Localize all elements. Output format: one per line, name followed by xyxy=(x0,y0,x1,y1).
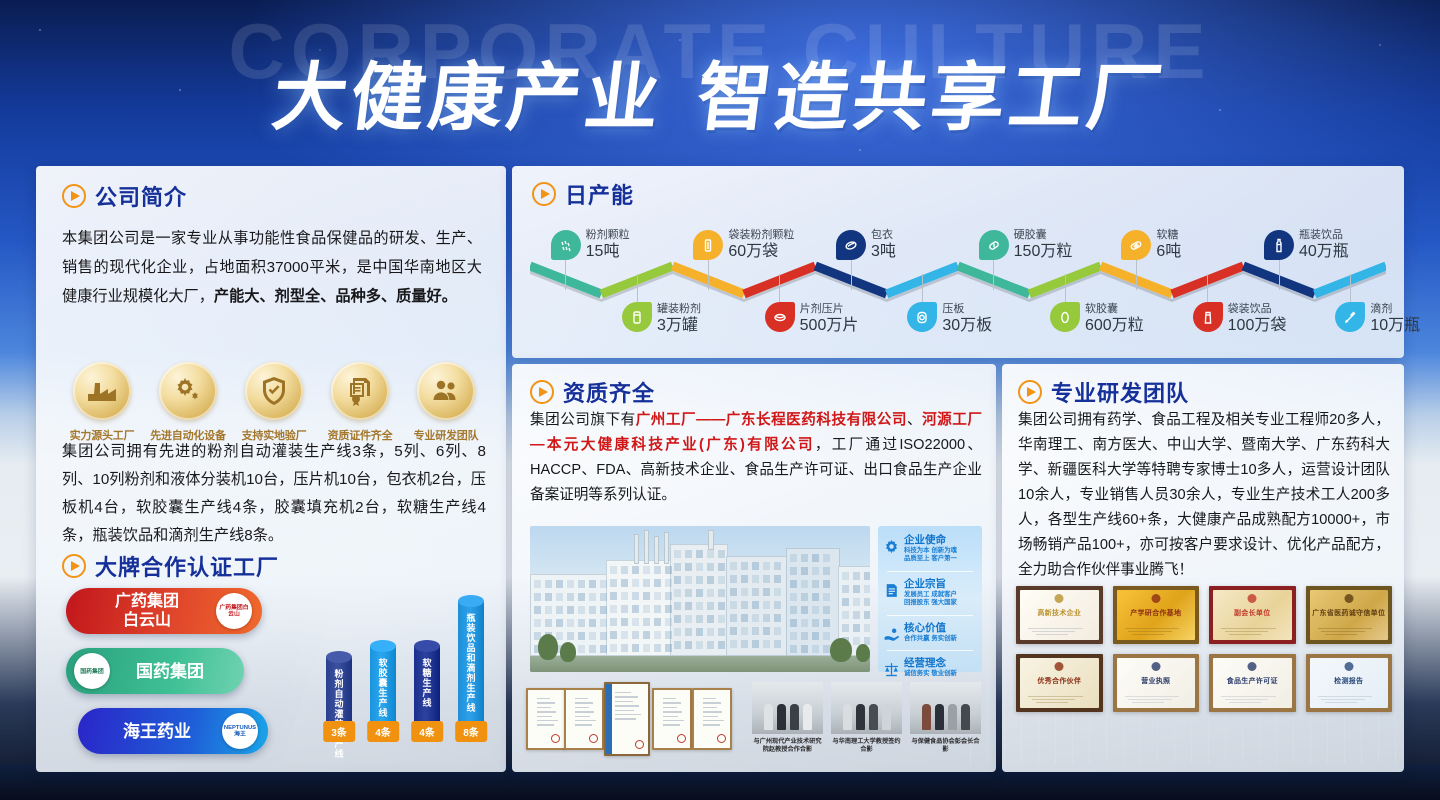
gummy-icon xyxy=(1121,230,1151,260)
culture-item-4: 经营理念诚信务实 敬业创新 xyxy=(883,657,977,678)
company-badge-4: 资质证件齐全 xyxy=(322,362,398,443)
certificate-3: 副会长单位 xyxy=(1209,586,1296,644)
capacity-item-name: 粉剂颗粒 xyxy=(586,228,630,242)
certificate-title: 高新技术企业 xyxy=(1016,608,1103,618)
capacity-item-value: 100万袋 xyxy=(1228,316,1287,335)
document-icon xyxy=(883,582,900,599)
bar-value-tag: 4条 xyxy=(411,721,443,742)
capacity-section-header: 日产能 xyxy=(532,178,634,210)
arrow-right-icon xyxy=(62,554,86,578)
pouch-icon xyxy=(1193,302,1223,332)
pin-stem xyxy=(779,274,780,302)
capacity-item-value: 3万罐 xyxy=(657,316,701,335)
brand-pill-3[interactable]: 海王药业NEPTUNUS 海王 xyxy=(78,708,268,754)
certificate-5: 优秀合作伙伴 xyxy=(1016,654,1103,712)
culture-item-line-1: 发展员工 成就客户 xyxy=(904,591,977,599)
brand-pill-label: 海王药业 xyxy=(78,722,222,741)
pin-stem xyxy=(1350,274,1351,302)
qualification-paragraph: 集团公司旗下有广州工厂——广东长程医药科技有限公司、河源工厂—本元大健康科技产业… xyxy=(530,408,982,508)
pin-stem xyxy=(1279,260,1280,290)
poster-canvas: CORPORATE CULTURE 大健康产业智造共享工厂 公司简介 本集团公司… xyxy=(0,0,1440,800)
pin-stem xyxy=(637,274,638,302)
capacity-item-name: 瓶装饮品 xyxy=(1299,228,1349,242)
culture-divider xyxy=(887,571,973,572)
bar-column-2: 软胶囊生产线4条 xyxy=(370,646,396,742)
coating-icon xyxy=(836,230,866,260)
scales-icon xyxy=(883,661,900,678)
brand-logo-2-icon: 国药集团 xyxy=(74,653,110,689)
culture-divider xyxy=(887,650,973,651)
shield-check-icon xyxy=(245,362,303,420)
arrow-right-icon xyxy=(62,184,86,208)
gears-icon xyxy=(159,362,217,420)
certificate-7: 食品生产许可证 xyxy=(1209,654,1296,712)
people-icon xyxy=(417,362,475,420)
sachet-icon xyxy=(693,230,723,260)
certificate-title: 营业执照 xyxy=(1113,676,1200,686)
certificate-6: 营业执照 xyxy=(1113,654,1200,712)
company-section-header: 公司简介 xyxy=(62,180,482,212)
capacity-item-name: 袋装粉剂颗粒 xyxy=(728,228,794,242)
group-photo-caption: 与保健食品协会彭会长合影 xyxy=(910,738,981,754)
company-badge-2: 先进自动化设备 xyxy=(150,362,226,443)
capacity-zigzag-chart: 粉剂颗粒15吨罐装粉剂3万罐袋装粉剂颗粒60万袋片剂压片500万片包衣3吨压板3… xyxy=(530,208,1386,348)
factory-icon xyxy=(73,362,131,420)
culture-item-title: 经营理念 xyxy=(904,657,977,670)
bar-label: 瓶装饮品和滴剂生产线 xyxy=(465,613,478,713)
pin-stem xyxy=(708,260,709,290)
group-photo-3: 与保健食品协会彭会长合影 xyxy=(910,682,981,754)
mini-certificate-2 xyxy=(564,688,604,750)
can-icon xyxy=(622,302,652,332)
hand-icon xyxy=(883,626,900,643)
brand-pill-label: 广药集团白云山 xyxy=(66,592,216,630)
capacity-item-value: 10万瓶 xyxy=(1370,316,1420,335)
culture-item-line-2: 回报股东 强大国家 xyxy=(904,599,977,607)
bar-label: 粉剂自动灌装生产线 xyxy=(333,669,346,759)
culture-item-1: 企业使命科技为本 创新为魂品质至上 客户第一 xyxy=(883,534,977,564)
qualification-section-title: 资质齐全 xyxy=(563,376,655,408)
corporate-culture-panel: 企业使命科技为本 创新为魂品质至上 客户第一企业宗旨发展员工 成就客户回报股东 … xyxy=(878,526,982,672)
certificate-1: 高新技术企业 xyxy=(1016,586,1103,644)
group-photo-image xyxy=(752,682,823,734)
pin-stem xyxy=(922,274,923,302)
brand-section-header: 大牌合作认证工厂 xyxy=(62,550,486,582)
capacity-item-value: 6吨 xyxy=(1156,242,1181,261)
culture-item-3: 核心价值合作共赢 务实创新 xyxy=(883,622,977,643)
culture-item-title: 核心价值 xyxy=(904,622,977,635)
mini-certificate-3 xyxy=(604,682,650,756)
brand-section-title: 大牌合作认证工厂 xyxy=(95,550,279,582)
certificate-icon xyxy=(331,362,389,420)
bar-value-tag: 3条 xyxy=(323,721,355,742)
capacity-item-name: 软胶囊 xyxy=(1085,302,1144,316)
certificate-title: 食品生产许可证 xyxy=(1209,676,1296,686)
arrow-right-icon xyxy=(532,182,556,206)
certificate-grid: 高新技术企业产学研合作基地副会长单位广东省医药诚守信单位优秀合作伙伴营业执照食品… xyxy=(1016,586,1392,712)
pin-stem xyxy=(1207,274,1208,302)
company-badge-5: 专业研发团队 xyxy=(408,362,484,443)
qual-text-b: 、 xyxy=(907,412,922,428)
company-badge-1: 实力源头工厂 xyxy=(64,362,140,443)
title-part-2: 智造共享工厂 xyxy=(692,55,1171,141)
bar-column-3: 软糖生产线4条 xyxy=(414,646,440,742)
brand-pill-2[interactable]: 国药集团国药集团 xyxy=(66,648,244,694)
culture-item-line-1: 诚信务实 敬业创新 xyxy=(904,670,977,678)
capacity-item-name: 片剂压片 xyxy=(800,302,859,316)
brand-logo-3-icon: NEPTUNUS 海王 xyxy=(222,713,258,749)
capacity-panel: 日产能 粉剂颗粒15吨罐装粉剂3万罐袋装粉剂颗粒60万袋片剂压片500万片包衣3… xyxy=(512,166,1404,358)
culture-item-title: 企业宗旨 xyxy=(904,578,977,591)
company-panel: 公司简介 本集团公司是一家专业从事功能性食品保健品的研发、生产、销售的现代化企业… xyxy=(36,166,506,772)
certificate-title: 优秀合作伙伴 xyxy=(1016,676,1103,686)
culture-item-title: 企业使命 xyxy=(904,534,977,547)
group-photo-row: 与广州现代产业技术研究院赵教授合作合影与华南理工大学教授签约合影与保健食品协会彭… xyxy=(752,682,982,754)
capacity-item-name: 滴剂 xyxy=(1370,302,1420,316)
team-section-title: 专业研发团队 xyxy=(1051,376,1189,408)
arrow-right-icon xyxy=(1018,380,1042,404)
zigzag-path xyxy=(530,260,1386,302)
capacity-item-value: 500万片 xyxy=(800,316,859,335)
bar-column-4: 瓶装饮品和滴剂生产线8条 xyxy=(458,601,484,742)
certificate-title: 产学研合作基地 xyxy=(1113,608,1200,618)
blister-icon xyxy=(907,302,937,332)
brand-logo-1-icon: 广药集团白云山 xyxy=(216,593,252,629)
bar-label: 软胶囊生产线 xyxy=(377,658,390,718)
granule-icon xyxy=(551,230,581,260)
mini-certificate-5 xyxy=(692,688,732,750)
soft-capsule-icon xyxy=(1050,302,1080,332)
company-section-title: 公司简介 xyxy=(95,180,187,212)
certificate-4: 广东省医药诚守信单位 xyxy=(1306,586,1393,644)
group-photo-1: 与广州现代产业技术研究院赵教授合作合影 xyxy=(752,682,823,754)
capacity-item-value: 150万粒 xyxy=(1014,242,1073,261)
capacity-item-value: 60万袋 xyxy=(728,242,794,261)
brand-pill-list: 广药集团白云山广药集团白云山国药集团国药集团海王药业NEPTUNUS 海王 xyxy=(66,588,272,768)
bar-value-tag: 4条 xyxy=(367,721,399,742)
production-line-bar-chart: 粉剂自动灌装生产线3条软胶囊生产线4条软糖生产线4条瓶装饮品和滴剂生产线8条 xyxy=(322,582,502,782)
team-section-header: 专业研发团队 xyxy=(1018,376,1189,408)
company-intro-block: 公司简介 本集团公司是一家专业从事功能性食品保健品的研发、生产、销售的现代化企业… xyxy=(62,180,482,311)
factory-building-photo xyxy=(530,526,870,672)
arrow-right-icon xyxy=(530,380,554,404)
mini-certificate-4 xyxy=(652,688,692,750)
culture-divider xyxy=(887,615,973,616)
pin-stem xyxy=(851,260,852,290)
pin-stem xyxy=(1065,274,1066,302)
culture-item-2: 企业宗旨发展员工 成就客户回报股东 强大国家 xyxy=(883,578,977,608)
title-part-1: 大健康产业 xyxy=(268,55,669,141)
company-equipment-paragraph: 集团公司拥有先进的粉剂自动灌装生产线3条，5列、6列、8列、10列粉剂和液体分装… xyxy=(62,438,486,550)
culture-item-line-2: 品质至上 客户第一 xyxy=(904,555,977,563)
culture-item-line-1: 合作共赢 务实创新 xyxy=(904,635,977,643)
qualification-section-header: 资质齐全 xyxy=(530,376,655,408)
pin-stem xyxy=(565,260,566,290)
qual-text-a: 集团公司旗下有 xyxy=(530,412,636,428)
hard-capsule-icon xyxy=(979,230,1009,260)
group-photo-2: 与华南理工大学教授签约合影 xyxy=(831,682,902,754)
group-photo-image xyxy=(831,682,902,734)
tablet-icon xyxy=(765,302,795,332)
capacity-item-name: 袋装饮品 xyxy=(1228,302,1287,316)
company-badge-row: 实力源头工厂先进自动化设备支持实地验厂资质证件齐全专业研发团队 xyxy=(64,362,484,443)
team-paragraph: 集团公司拥有药学、食品工程及相关专业工程师20多人，华南理工、南方医大、中山大学… xyxy=(1018,408,1390,583)
capacity-section-title: 日产能 xyxy=(565,178,634,210)
bottle-icon xyxy=(1264,230,1294,260)
group-photo-caption: 与广州现代产业技术研究院赵教授合作合影 xyxy=(752,738,823,754)
bar-label: 软糖生产线 xyxy=(421,658,434,708)
capacity-item-name: 罐装粉剂 xyxy=(657,302,701,316)
bar-column-1: 粉剂自动灌装生产线3条 xyxy=(326,657,352,742)
brand-pill-1[interactable]: 广药集团白云山广药集团白云山 xyxy=(66,588,262,634)
certificate-2: 产学研合作基地 xyxy=(1113,586,1200,644)
capacity-item-name: 硬胶囊 xyxy=(1014,228,1073,242)
certificate-mini-strip xyxy=(526,682,740,760)
certificate-title: 广东省医药诚守信单位 xyxy=(1306,608,1393,618)
company-intro-bold: 产能大、剂型全、品种多、质量好。 xyxy=(214,288,457,305)
capacity-item-name: 压板 xyxy=(942,302,992,316)
pin-stem xyxy=(993,260,994,290)
gear-icon xyxy=(883,538,900,555)
capacity-item-value: 3吨 xyxy=(871,242,896,261)
group-photo-image xyxy=(910,682,981,734)
capacity-item-value: 30万板 xyxy=(942,316,992,335)
company-intro-paragraph: 本集团公司是一家专业从事功能性食品保健品的研发、生产、销售的现代化企业，占地面积… xyxy=(62,224,482,311)
certificate-title: 检测报告 xyxy=(1306,676,1393,686)
certificate-title: 副会长单位 xyxy=(1209,608,1296,618)
capacity-item-name: 包衣 xyxy=(871,228,896,242)
dropper-icon xyxy=(1335,302,1365,332)
capacity-item-value: 600万粒 xyxy=(1085,316,1144,335)
pin-stem xyxy=(1136,260,1137,290)
company-badge-3: 支持实地验厂 xyxy=(236,362,312,443)
capacity-item-name: 软糖 xyxy=(1156,228,1181,242)
mini-certificate-1 xyxy=(526,688,566,750)
capacity-item-value: 40万瓶 xyxy=(1299,242,1349,261)
page-title: 大健康产业智造共享工厂 xyxy=(267,38,1172,145)
bar-value-tag: 8条 xyxy=(455,721,487,742)
team-panel: 专业研发团队 集团公司拥有药学、食品工程及相关专业工程师20多人，华南理工、南方… xyxy=(1002,364,1404,772)
group-photo-caption: 与华南理工大学教授签约合影 xyxy=(831,738,902,754)
capacity-item-value: 15吨 xyxy=(586,242,630,261)
brand-pill-label: 国药集团 xyxy=(110,662,244,681)
qualification-panel: 资质齐全 集团公司旗下有广州工厂——广东长程医药科技有限公司、河源工厂—本元大健… xyxy=(512,364,996,772)
poster-header: CORPORATE CULTURE 大健康产业智造共享工厂 xyxy=(0,0,1440,160)
certificate-8: 检测报告 xyxy=(1306,654,1393,712)
qual-highlight-1: 广州工厂——广东长程医药科技有限公司 xyxy=(636,412,907,428)
